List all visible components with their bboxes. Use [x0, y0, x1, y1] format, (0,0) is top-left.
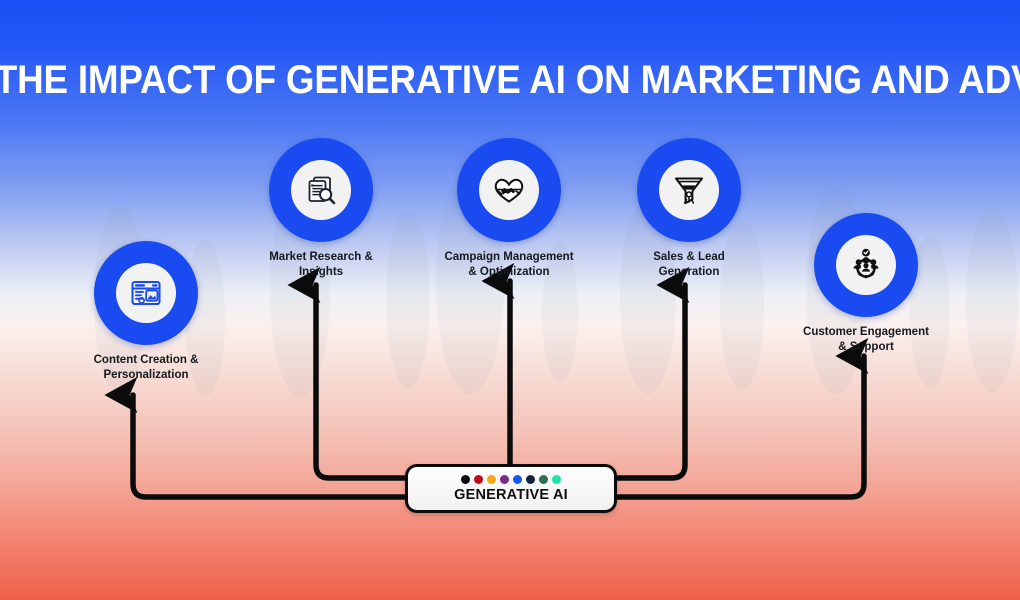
connector-content-creation: [133, 395, 405, 497]
handshake-heart-icon: [479, 160, 539, 220]
dot-purple: [500, 475, 509, 484]
sales-funnel-icon: [659, 160, 719, 220]
connector-sales-lead: [617, 285, 685, 478]
dot-black: [461, 475, 470, 484]
node-content-creation[interactable]: Content Creation & Personalization: [94, 241, 198, 345]
color-dot-row: [461, 475, 561, 484]
node-market-research[interactable]: Market Research & Insights: [269, 138, 373, 242]
dot-blue: [513, 475, 522, 484]
node-customer-engagement[interactable]: Customer Engagement & Support: [814, 213, 918, 317]
node-label-sales-lead: Sales & Lead Generation: [589, 250, 789, 280]
webpage-image-icon: [116, 263, 176, 323]
node-label-content-creation: Content Creation & Personalization: [46, 353, 246, 383]
dot-green: [539, 475, 548, 484]
generative-ai-card-label: GENERATIVE AI: [454, 487, 568, 503]
people-gear-check-icon: [836, 235, 896, 295]
dot-amber: [487, 475, 496, 484]
page-title: THE IMPACT OF GENERATIVE AI ON MARKETING…: [0, 56, 1020, 104]
connector-market-research: [316, 285, 405, 478]
connector-customer-engagement: [617, 356, 864, 497]
infographic-canvas: THE IMPACT OF GENERATIVE AI ON MARKETING…: [0, 0, 1020, 600]
dot-crimson: [474, 475, 483, 484]
node-campaign-management[interactable]: Campaign Management & Optimization: [457, 138, 561, 242]
node-sales-lead[interactable]: Sales & Lead Generation: [637, 138, 741, 242]
node-label-customer-engagement: Customer Engagement & Support: [766, 325, 966, 355]
generative-ai-card[interactable]: GENERATIVE AI: [405, 464, 617, 513]
documents-magnifier-icon: [291, 160, 351, 220]
dot-navy: [526, 475, 535, 484]
dot-spring: [552, 475, 561, 484]
node-label-campaign-management: Campaign Management & Optimization: [409, 250, 609, 280]
node-label-market-research: Market Research & Insights: [221, 250, 421, 280]
